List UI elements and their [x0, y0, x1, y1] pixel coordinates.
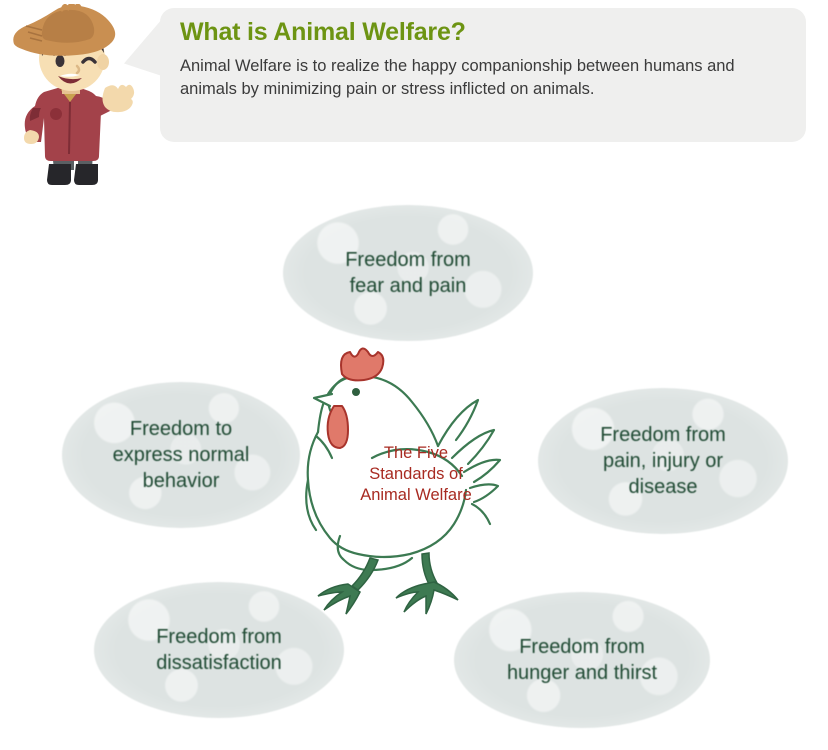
farmer-jacket: [32, 86, 101, 161]
intro-description: Animal Welfare is to realize the happy c…: [180, 55, 780, 101]
chicken-eye: [352, 388, 360, 396]
freedom-bubble-fear-and-pain[interactable]: Freedom from fear and pain: [283, 205, 533, 341]
freedom-label: Freedom from pain, injury or disease: [600, 422, 726, 500]
freedom-label: Freedom to express normal behavior: [113, 416, 250, 494]
chicken-breast: [306, 480, 316, 530]
chicken-leg-left: [352, 558, 378, 590]
farmer-boot-right: [74, 164, 98, 185]
freedom-bubble-pain-injury-disease[interactable]: Freedom from pain, injury or disease: [538, 388, 788, 534]
chicken-comb: [341, 348, 383, 380]
freedom-label: Freedom from hunger and thirst: [507, 634, 657, 686]
farmer-character: [4, 4, 156, 196]
farmer-ear: [97, 54, 109, 70]
farmer-button: [50, 108, 62, 120]
chicken-foot-right: [396, 582, 458, 614]
page-title: What is Animal Welfare?: [180, 18, 466, 47]
chicken-tail-base: [472, 504, 490, 524]
farmer-hand-right: [103, 85, 135, 112]
freedom-label: Freedom from dissatisfaction: [156, 624, 282, 676]
farmer-boot-left: [47, 164, 71, 185]
farmer-zipper: [69, 102, 70, 154]
freedom-bubble-express-normal-behavior[interactable]: Freedom to express normal behavior: [62, 382, 300, 528]
chicken-leg-right: [422, 553, 437, 586]
chicken-tail-1: [438, 400, 478, 446]
chicken-foot-left: [318, 584, 360, 614]
freedom-label: Freedom from fear and pain: [345, 247, 471, 299]
chicken-upper-back: [356, 376, 438, 446]
speech-bubble: What is Animal Welfare? Animal Welfare i…: [160, 8, 806, 142]
chicken-legs: [318, 553, 458, 614]
farmer-eye-pupil: [56, 55, 65, 67]
center-emblem-label: The Five Standards of Animal Welfare: [348, 443, 484, 506]
chicken-wattle: [328, 406, 348, 448]
